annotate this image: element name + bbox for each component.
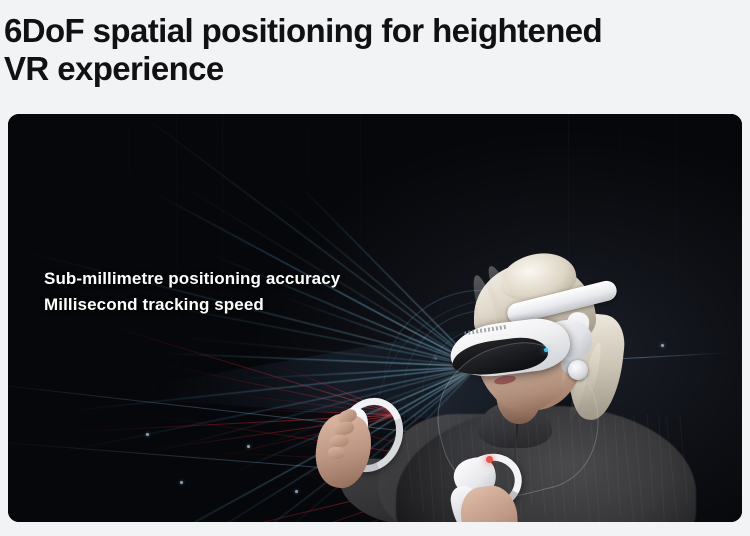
page-title: 6DoF spatial positioning for heightened …: [4, 12, 724, 88]
page-title-line-1: 6DoF spatial positioning for heightened: [4, 12, 602, 49]
right-controller-led-icon: [486, 456, 493, 463]
vr-feature-banner: Sub-millimetre positioning accuracy Mill…: [8, 114, 742, 522]
page-title-line-2: VR experience: [4, 50, 724, 88]
page-root: 6DoF spatial positioning for heightened …: [0, 0, 750, 536]
vr-user-photo: [8, 114, 742, 522]
banner-headline-line-2: Millisecond tracking speed: [44, 292, 464, 318]
banner-headline-line-1: Sub-millimetre positioning accuracy: [44, 266, 464, 292]
banner-headline: Sub-millimetre positioning accuracy Mill…: [44, 266, 464, 318]
